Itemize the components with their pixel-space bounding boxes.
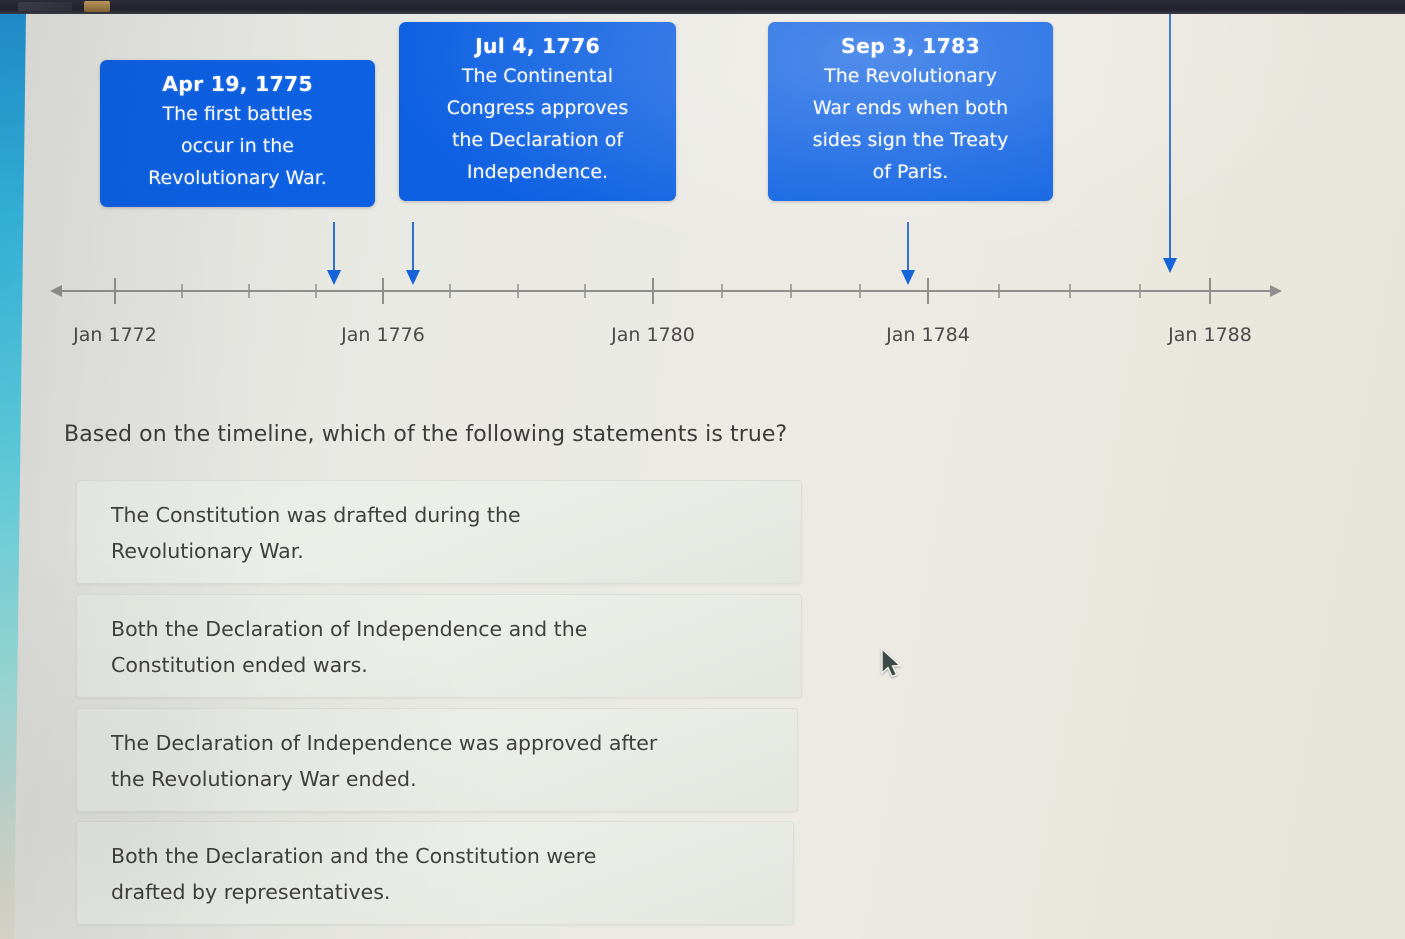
axis-minor-tick bbox=[449, 284, 451, 298]
axis-minor-tick bbox=[998, 284, 1000, 298]
axis-tick-label: Jan 1780 bbox=[611, 324, 695, 346]
axis-minor-tick bbox=[584, 284, 586, 298]
timeline-pointer-2 bbox=[406, 222, 420, 288]
answer-option-a-line-2: Revolutionary War. bbox=[111, 533, 779, 569]
answer-option-d-line-1: Both the Declaration and the Constitutio… bbox=[111, 838, 771, 874]
answer-option-b-line-2: Constitution ended wars. bbox=[111, 647, 779, 683]
question-prompt: Based on the timeline, which of the foll… bbox=[64, 422, 1164, 447]
axis-major-tick bbox=[1209, 278, 1211, 304]
timeline-event-date-3: Sep 3, 1783 bbox=[782, 32, 1039, 60]
axis-minor-tick bbox=[790, 284, 792, 298]
timeline-axis: Jan 1772 Jan 1776 Jan 1780 Jan 1784 Jan … bbox=[62, 290, 1270, 292]
axis-minor-tick bbox=[1139, 284, 1141, 298]
bezel-smudge bbox=[18, 2, 72, 11]
answer-option-a[interactable]: The Constitution was drafted during the … bbox=[76, 480, 802, 584]
axis-major-tick bbox=[382, 278, 384, 304]
answer-option-c-line-2: the Revolutionary War ended. bbox=[111, 761, 775, 797]
timeline-event-card-2: Jul 4, 1776 The Continental Congress app… bbox=[399, 22, 676, 201]
axis-minor-tick bbox=[859, 284, 861, 298]
timeline-event-date-1: Apr 19, 1775 bbox=[114, 70, 361, 98]
answer-option-a-line-1: The Constitution was drafted during the bbox=[111, 497, 779, 533]
axis-tick-label: Jan 1784 bbox=[886, 324, 970, 346]
timeline-event-desc-1: The first battles occur in the Revolutio… bbox=[114, 98, 361, 194]
answer-option-c[interactable]: The Declaration of Independence was appr… bbox=[76, 708, 798, 812]
bezel-orange-icon bbox=[84, 1, 110, 12]
axis-minor-tick bbox=[1069, 284, 1071, 298]
timeline-pointer-3 bbox=[901, 222, 915, 288]
timeline-pointer-1 bbox=[327, 222, 341, 288]
page-content: Apr 19, 1775 The first battles occur in … bbox=[0, 14, 1405, 939]
timeline-event-desc-3: The Revolutionary War ends when both sid… bbox=[782, 60, 1039, 188]
timeline-graphic: Apr 19, 1775 The first battles occur in … bbox=[0, 14, 1405, 374]
axis-tick-label: Jan 1772 bbox=[73, 324, 157, 346]
axis-minor-tick bbox=[517, 284, 519, 298]
axis-tick-label: Jan 1788 bbox=[1168, 324, 1252, 346]
timeline-axis-right-arrow-icon bbox=[1270, 285, 1282, 297]
answer-option-b-line-1: Both the Declaration of Independence and… bbox=[111, 611, 779, 647]
timeline-event-card-3: Sep 3, 1783 The Revolutionary War ends w… bbox=[768, 22, 1053, 201]
device-top-bezel bbox=[0, 0, 1405, 14]
axis-minor-tick bbox=[721, 284, 723, 298]
axis-tick-label: Jan 1776 bbox=[341, 324, 425, 346]
timeline-axis-line bbox=[62, 290, 1270, 292]
screen-photo: Apr 19, 1775 The first battles occur in … bbox=[0, 0, 1405, 939]
axis-minor-tick bbox=[248, 284, 250, 298]
axis-major-tick bbox=[927, 278, 929, 304]
timeline-event-desc-2: The Continental Congress approves the De… bbox=[413, 60, 662, 188]
answer-option-c-line-1: The Declaration of Independence was appr… bbox=[111, 725, 775, 761]
axis-minor-tick bbox=[181, 284, 183, 298]
timeline-pointer-4 bbox=[1163, 0, 1177, 288]
mouse-cursor-arrow-icon bbox=[880, 648, 906, 682]
answer-option-d[interactable]: Both the Declaration and the Constitutio… bbox=[76, 821, 794, 925]
axis-major-tick bbox=[652, 278, 654, 304]
timeline-event-date-2: Jul 4, 1776 bbox=[413, 32, 662, 60]
timeline-event-card-1: Apr 19, 1775 The first battles occur in … bbox=[100, 60, 375, 207]
timeline-axis-left-arrow-icon bbox=[50, 285, 62, 297]
axis-major-tick bbox=[114, 278, 116, 304]
axis-minor-tick bbox=[315, 284, 317, 298]
answer-option-d-line-2: drafted by representatives. bbox=[111, 874, 771, 910]
answer-option-b[interactable]: Both the Declaration of Independence and… bbox=[76, 594, 802, 698]
